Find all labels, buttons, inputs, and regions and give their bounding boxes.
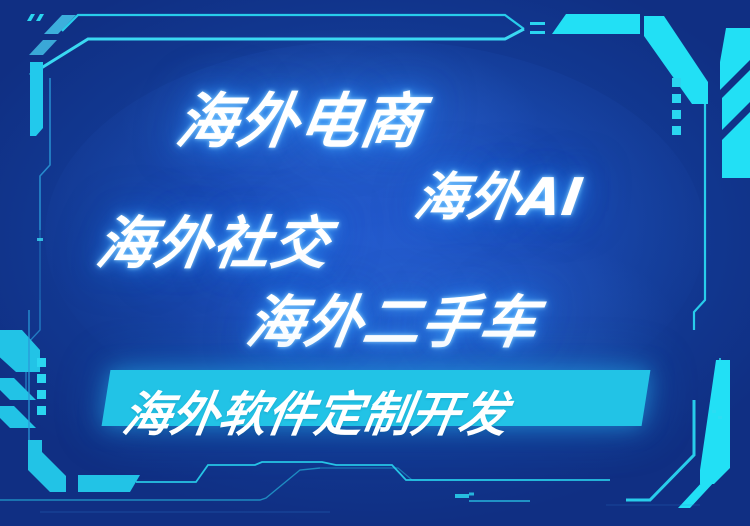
headline-overseas-social: 海外社交 bbox=[92, 198, 338, 280]
headline-overseas-used-car: 海外二手车 bbox=[242, 277, 546, 359]
headline-overseas-ai: 海外AI bbox=[410, 155, 590, 230]
marker-dots-right-icon bbox=[672, 78, 681, 135]
marker-dots-left-icon bbox=[37, 358, 46, 415]
headline-overseas-ecommerce: 海外电商 bbox=[171, 73, 430, 160]
highlight-banner-label: 海外软件定制开发 bbox=[118, 375, 513, 445]
poster-canvas: 海外电商 海外AI 海外社交 海外二手车 海外软件定制开发 bbox=[0, 0, 750, 526]
